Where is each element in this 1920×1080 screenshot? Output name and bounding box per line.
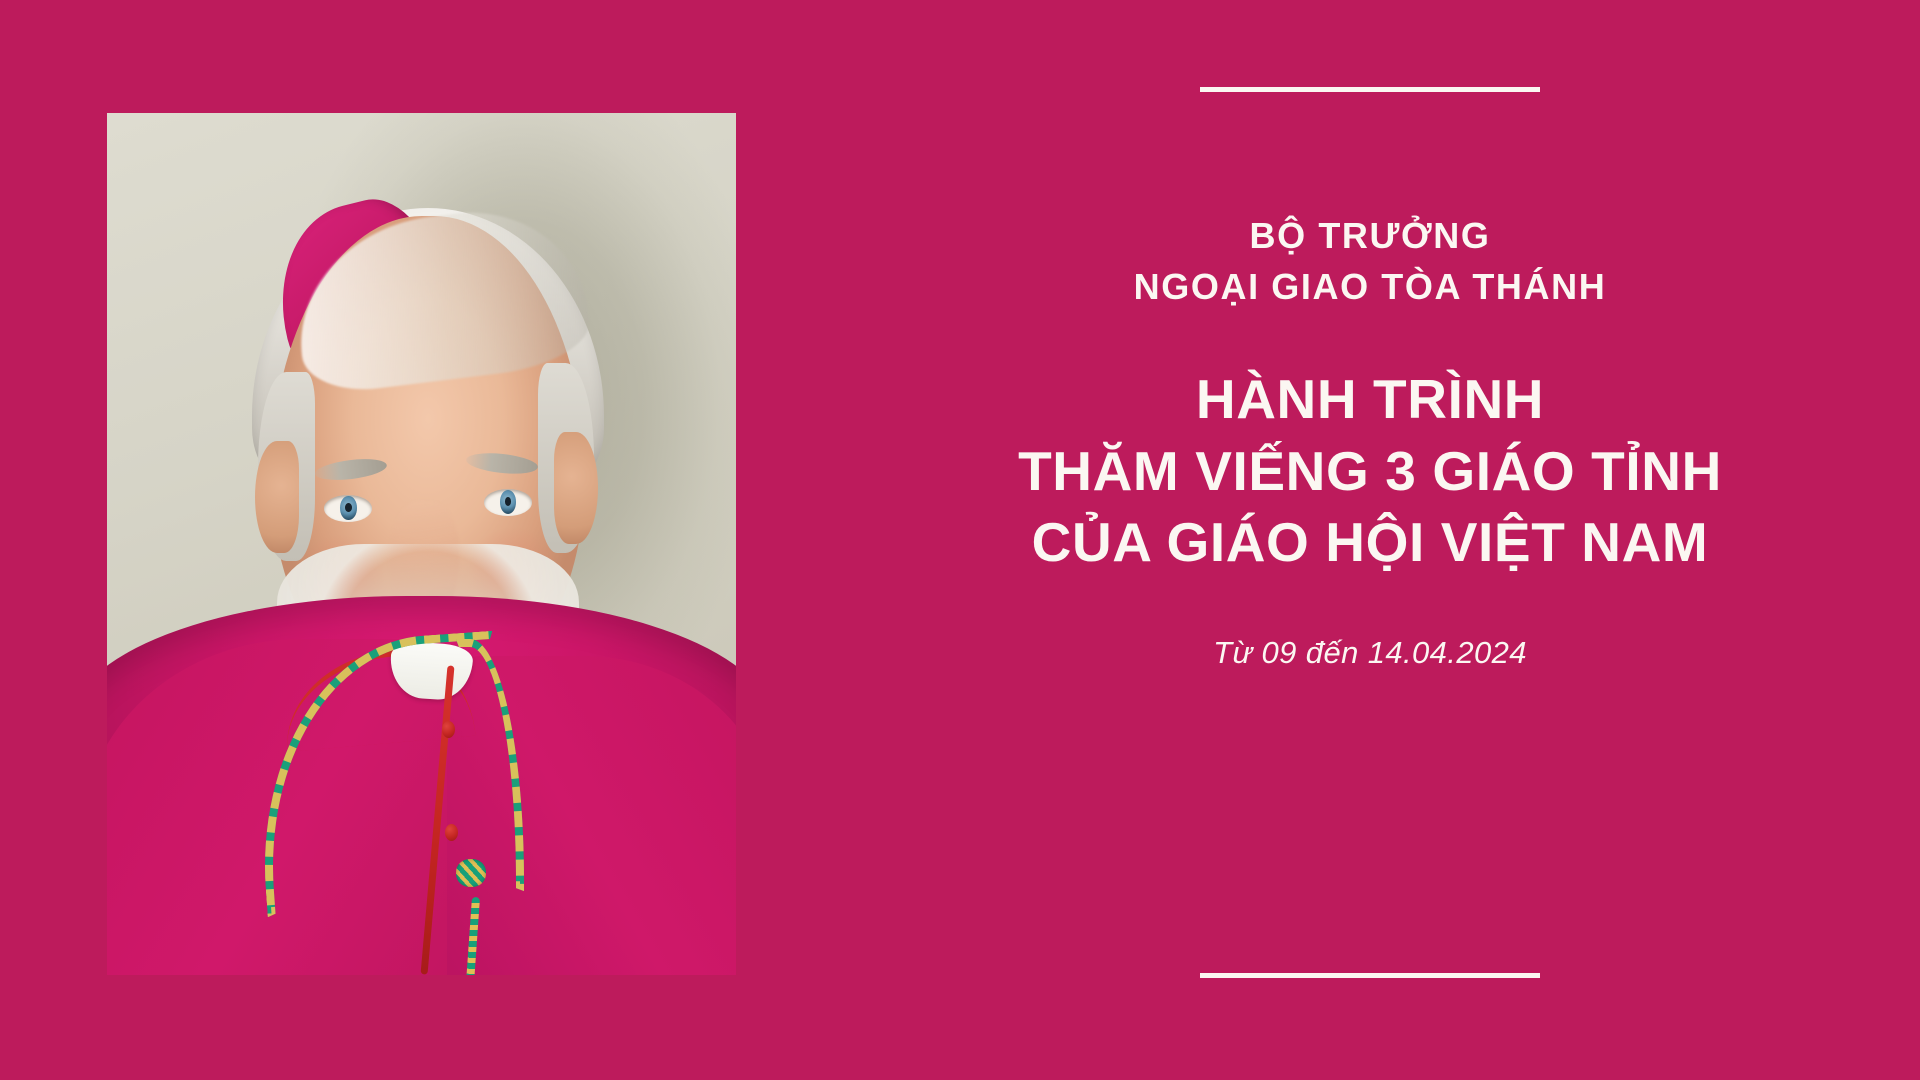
eyebrow-title: BỘ TRƯỞNG NGOẠI GIAO TÒA THÁNH <box>1134 210 1607 312</box>
eyebrow-line-2: NGOẠI GIAO TÒA THÁNH <box>1134 261 1607 312</box>
pectoral-cord-knot <box>456 859 486 887</box>
ear-left <box>255 441 299 553</box>
ear-right <box>554 432 598 544</box>
text-column: BỘ TRƯỞNG NGOẠI GIAO TÒA THÁNH HÀNH TRÌN… <box>820 0 1920 1080</box>
divider-bottom <box>1200 973 1540 978</box>
divider-top <box>1200 87 1540 92</box>
eyebrow-line-1: BỘ TRƯỞNG <box>1134 210 1607 261</box>
iris-left <box>340 496 356 520</box>
poster-banner: BỘ TRƯỞNG NGOẠI GIAO TÒA THÁNH HÀNH TRÌN… <box>0 0 1920 1080</box>
page-title: HÀNH TRÌNH THĂM VIẾNG 3 GIÁO TỈNH CỦA GI… <box>1018 364 1722 579</box>
headline-line-3: CỦA GIÁO HỘI VIỆT NAM <box>1018 507 1722 579</box>
iris-right <box>500 490 516 514</box>
headline-line-1: HÀNH TRÌNH <box>1018 364 1722 436</box>
portrait-photo <box>107 113 736 975</box>
headline-line-2: THĂM VIẾNG 3 GIÁO TỈNH <box>1018 436 1722 508</box>
portrait-backdrop <box>107 113 736 975</box>
eye-right <box>484 489 532 516</box>
date-range: Từ 09 đến 14.04.2024 <box>1213 635 1527 671</box>
eye-left <box>324 495 372 522</box>
